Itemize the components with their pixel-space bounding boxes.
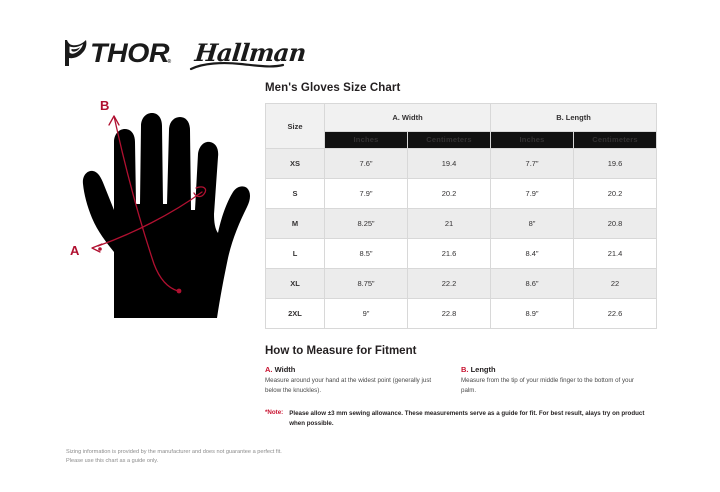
cell-length-in: 8.6” — [491, 269, 574, 299]
marker-a: A. — [265, 365, 273, 374]
cell-width-in: 8.75” — [325, 269, 408, 299]
table-header-row-units: Inches Centimeters Inches Centimeters — [266, 131, 657, 148]
thor-helmet-icon — [62, 38, 88, 68]
cell-size: M — [266, 209, 325, 239]
cell-length-cm: 21.4 — [574, 239, 657, 269]
diagram-label-b: B — [100, 98, 109, 113]
cell-size: L — [266, 239, 325, 269]
header-group-length: B. Length — [491, 104, 657, 132]
how-to-heading-text: Length — [471, 365, 496, 374]
table-row: XL 8.75” 22.2 8.6” 22 — [266, 269, 657, 299]
how-to-item-heading: B. Length — [461, 365, 641, 374]
size-chart-table: Size A. Width B. Length Inches Centimete… — [265, 103, 657, 329]
cell-length-in: 8.9” — [491, 299, 574, 329]
header-group-width: A. Width — [325, 104, 491, 132]
cell-size: S — [266, 179, 325, 209]
table-header-row-groups: Size A. Width B. Length — [266, 104, 657, 132]
table-head: Size A. Width B. Length Inches Centimete… — [266, 104, 657, 149]
hallman-swash-icon — [189, 61, 285, 73]
cell-width-cm: 20.2 — [408, 179, 491, 209]
how-to-heading-text: Width — [275, 365, 296, 374]
cell-width-in: 9” — [325, 299, 408, 329]
cell-length-cm: 22.6 — [574, 299, 657, 329]
header-width-inches: Inches — [325, 131, 408, 148]
note-label: *Note: — [265, 409, 283, 416]
note-text: Please allow ±3 mm sewing allowance. The… — [289, 409, 649, 428]
hand-silhouette — [83, 113, 250, 318]
size-chart-panel: Men's Gloves Size Chart Size A. Width B.… — [265, 82, 657, 428]
how-to-measure-section: How to Measure for Fitment A. Width Meas… — [265, 345, 657, 428]
footer-line-1: Sizing information is provided by the ma… — [66, 448, 406, 457]
brand-logos: THOR ® Hallman — [62, 33, 292, 73]
table-row: L 8.5” 21.6 8.4” 21.4 — [266, 239, 657, 269]
how-to-measure-columns: A. Width Measure around your hand at the… — [265, 365, 657, 395]
cell-size: XL — [266, 269, 325, 299]
how-to-item-length: B. Length Measure from the tip of your m… — [461, 365, 657, 395]
header-length-centimeters: Centimeters — [574, 131, 657, 148]
cell-length-in: 7.9” — [491, 179, 574, 209]
cell-width-cm: 22.2 — [408, 269, 491, 299]
diagram-label-a: A — [70, 243, 80, 258]
cell-width-cm: 19.4 — [408, 149, 491, 179]
cell-length-in: 8.4” — [491, 239, 574, 269]
cell-length-cm: 20.8 — [574, 209, 657, 239]
cell-width-in: 7.6” — [325, 149, 408, 179]
how-to-body-width: Measure around your hand at the widest p… — [265, 376, 445, 395]
cell-width-cm: 21 — [408, 209, 491, 239]
how-to-item-width: A. Width Measure around your hand at the… — [265, 365, 461, 395]
how-to-item-heading: A. Width — [265, 365, 445, 374]
footer-disclaimer: Sizing information is provided by the ma… — [66, 448, 406, 466]
thor-wordmark: THOR — [90, 40, 169, 67]
header-width-centimeters: Centimeters — [408, 131, 491, 148]
cell-width-in: 8.25” — [325, 209, 408, 239]
page-title: Men's Gloves Size Chart — [265, 82, 657, 94]
cell-size: XS — [266, 149, 325, 179]
marker-b: B. — [461, 365, 469, 374]
hand-diagram-svg: B A — [62, 92, 272, 322]
header-length-inches: Inches — [491, 131, 574, 148]
how-to-measure-title: How to Measure for Fitment — [265, 345, 657, 357]
cell-length-in: 7.7” — [491, 149, 574, 179]
cell-length-cm: 20.2 — [574, 179, 657, 209]
thor-logo: THOR ® — [62, 38, 171, 68]
hand-measurement-diagram: B A — [62, 92, 272, 322]
cell-length-cm: 19.6 — [574, 149, 657, 179]
cell-width-in: 7.9” — [325, 179, 408, 209]
header-size: Size — [266, 104, 325, 149]
note-row: *Note: Please allow ±3 mm sewing allowan… — [265, 409, 657, 428]
cell-size: 2XL — [266, 299, 325, 329]
table-body: XS 7.6” 19.4 7.7” 19.6 S 7.9” 20.2 7.9” … — [266, 149, 657, 329]
footer-line-2: Please use this chart as a guide only. — [66, 457, 406, 466]
how-to-body-length: Measure from the tip of your middle fing… — [461, 376, 641, 395]
cell-length-cm: 22 — [574, 269, 657, 299]
table-row: XS 7.6” 19.4 7.7” 19.6 — [266, 149, 657, 179]
cell-length-in: 8” — [491, 209, 574, 239]
cell-width-cm: 21.6 — [408, 239, 491, 269]
table-row: M 8.25” 21 8” 20.8 — [266, 209, 657, 239]
cell-width-in: 8.5” — [325, 239, 408, 269]
table-row: S 7.9” 20.2 7.9” 20.2 — [266, 179, 657, 209]
table-row: 2XL 9” 22.8 8.9” 22.6 — [266, 299, 657, 329]
hallman-logo: Hallman — [195, 41, 306, 66]
cell-width-cm: 22.8 — [408, 299, 491, 329]
